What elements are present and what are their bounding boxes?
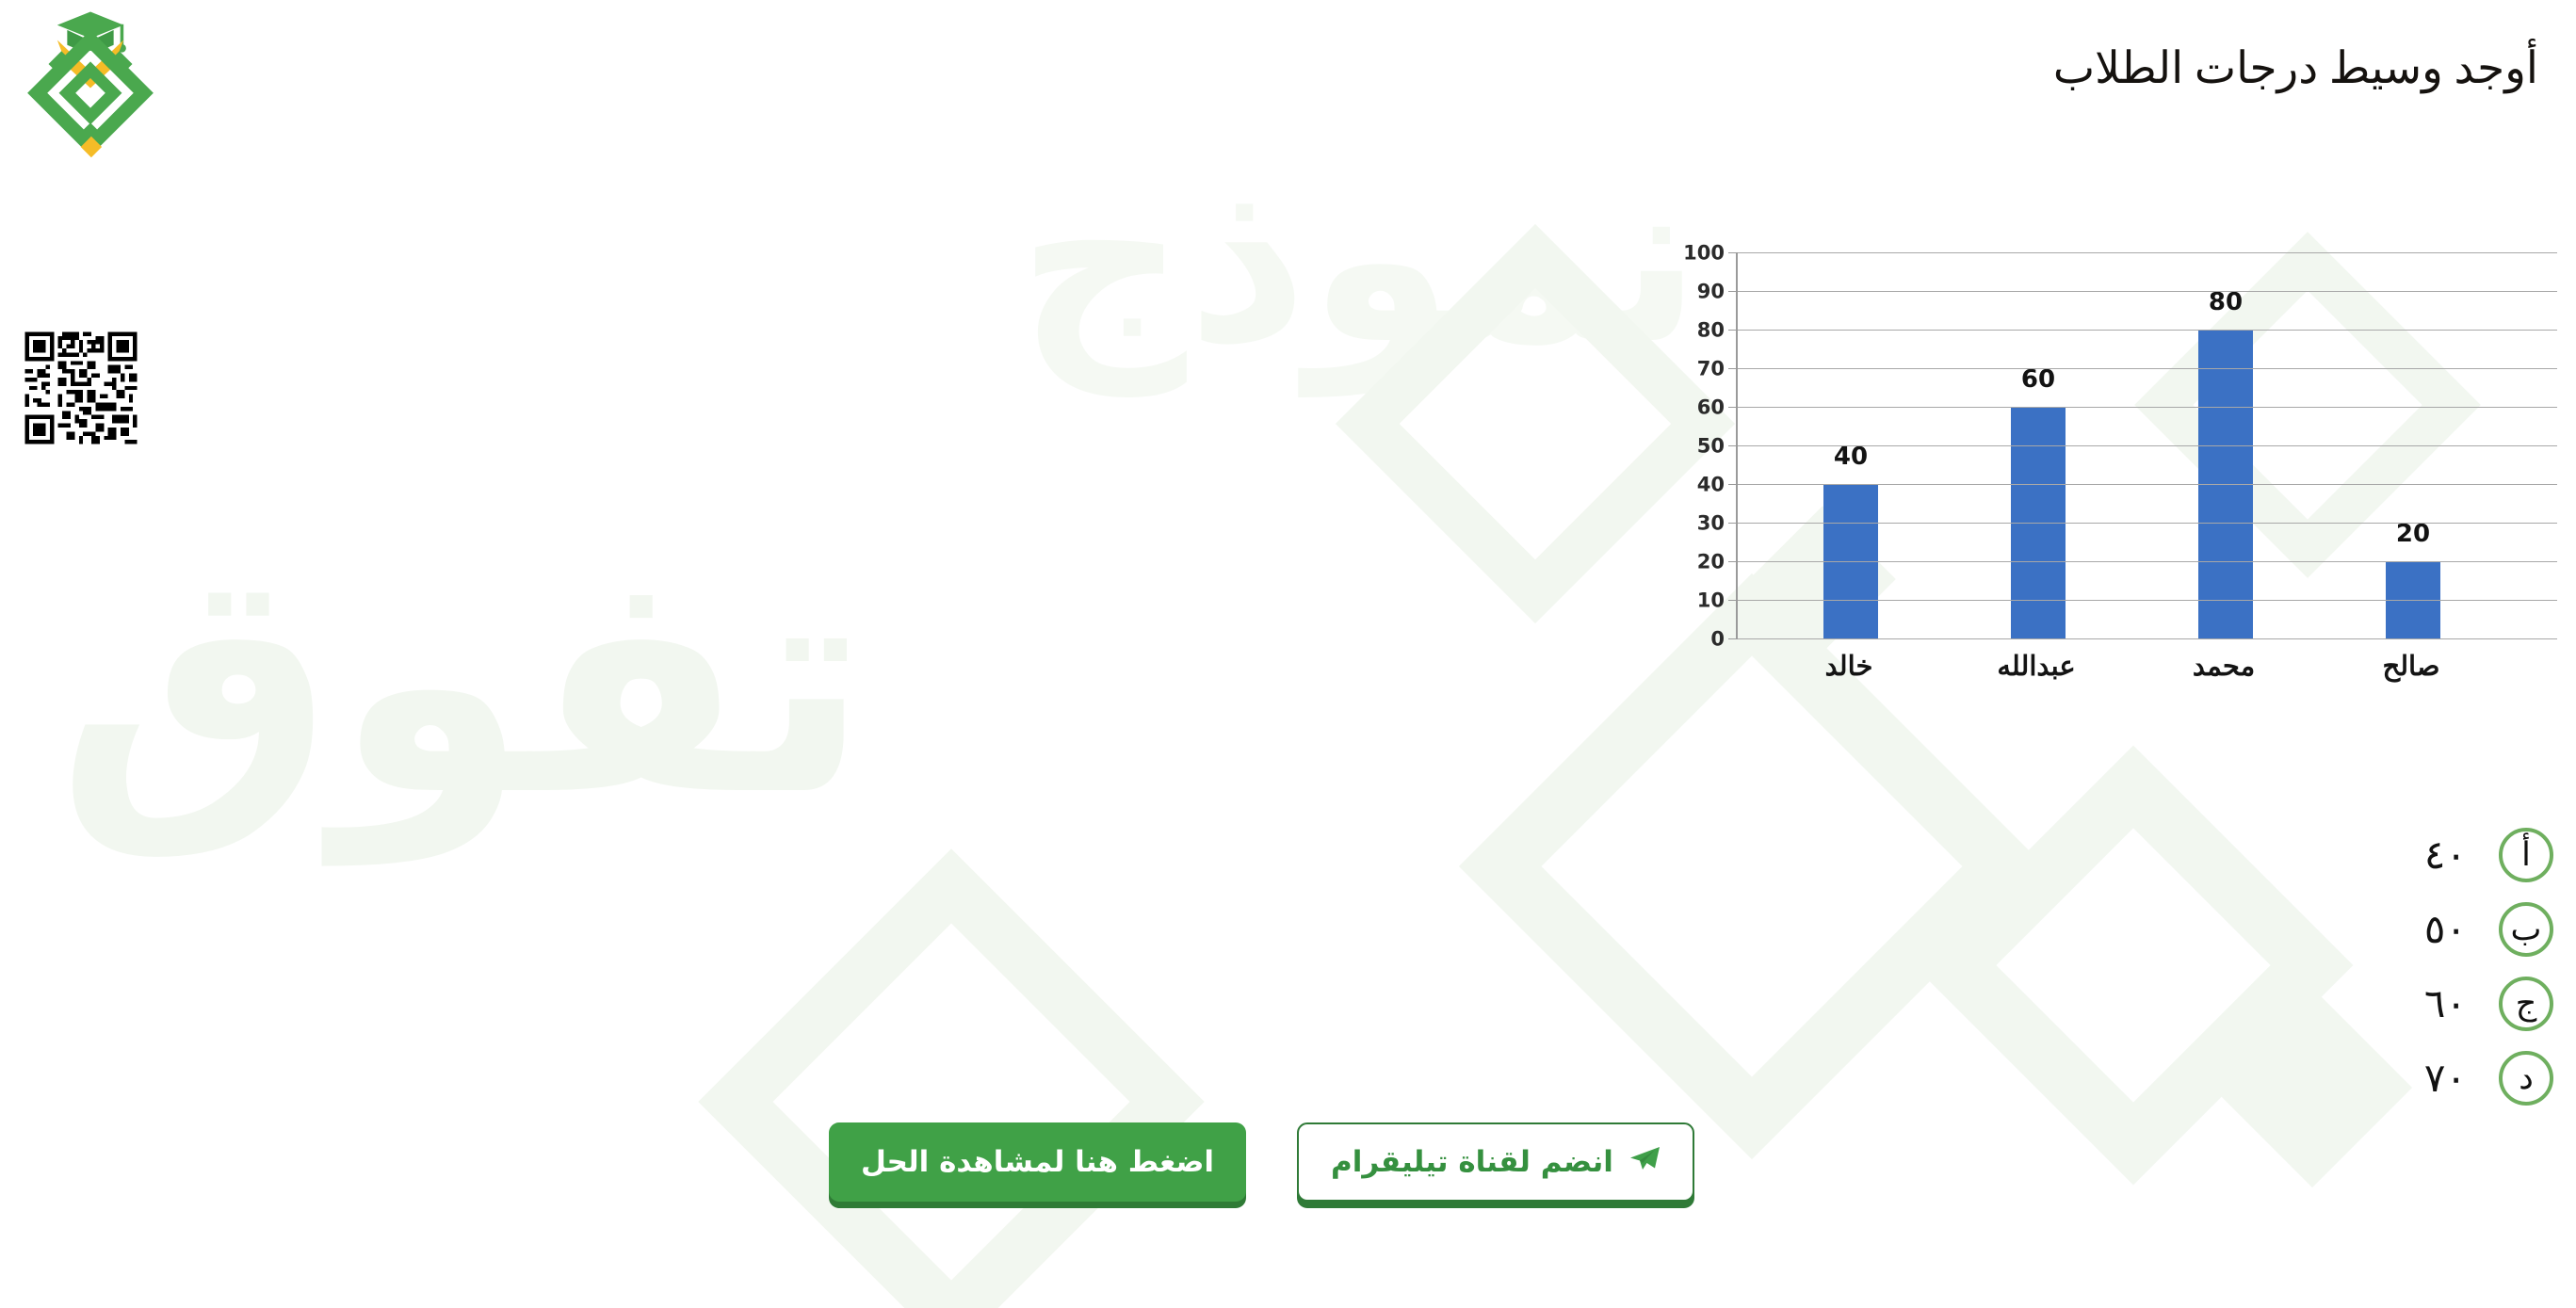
chart-y-tick-label: 40 <box>1697 474 1725 496</box>
chart-gridline: 90 <box>1738 291 2557 292</box>
chart-y-tick-label: 70 <box>1697 358 1725 380</box>
bar-chart: 40608020 1009080706050403020100 خالدعبدا… <box>1681 243 2557 742</box>
site-logo <box>8 2 173 168</box>
chart-y-tick <box>1728 330 1738 331</box>
chart-gridline: 100 <box>1738 252 2557 253</box>
chart-x-label: خالد <box>1768 650 1930 683</box>
chart-y-tick <box>1728 484 1738 485</box>
answer-option-value: ٧٠ <box>2424 1055 2467 1102</box>
chart-y-tick-label: 20 <box>1697 551 1725 573</box>
chart-y-tick-label: 30 <box>1697 512 1725 535</box>
chart-gridline: 80 <box>1738 330 2557 331</box>
chart-y-tick-label: 50 <box>1697 435 1725 458</box>
chart-y-tick <box>1728 523 1738 524</box>
chart-y-tick <box>1728 368 1738 369</box>
answer-option-value: ٤٠ <box>2424 832 2467 879</box>
chart-gridline: 60 <box>1738 407 2557 408</box>
chart-x-label: محمد <box>2143 650 2305 683</box>
chart-y-tick-label: 60 <box>1697 396 1725 419</box>
answer-option-1[interactable]: أ٤٠ <box>2309 817 2553 892</box>
chart-gridline: 10 <box>1738 600 2557 601</box>
chart-x-axis-labels: خالدعبداللهمحمدصالح <box>1736 650 2557 706</box>
chart-y-tick <box>1728 407 1738 408</box>
chart-gridline: 70 <box>1738 368 2557 369</box>
question-title: أوجد وسيط درجات الطلاب <box>1502 41 2538 97</box>
telegram-paper-plane-icon <box>1628 1144 1661 1180</box>
chart-bar-value-label: 20 <box>2396 520 2430 548</box>
watermark-word-primary: تفوق <box>57 527 869 838</box>
answer-option-4[interactable]: د٧٠ <box>2309 1041 2553 1115</box>
answer-option-letter[interactable]: ب <box>2499 902 2553 957</box>
chart-bar-value-label: 80 <box>2209 288 2243 316</box>
chart-bar-value-label: 60 <box>2021 365 2055 394</box>
chart-y-tick <box>1728 561 1738 562</box>
watermark-word-secondary: نموذج <box>1017 141 1702 377</box>
chart-gridline: 0 <box>1738 638 2557 639</box>
view-solution-label: اضغط هنا لمشاهدة الحل <box>861 1145 1214 1179</box>
chart-y-tick-label: 100 <box>1683 242 1725 265</box>
watermark-diamond <box>1914 746 2354 1186</box>
watermark-diamond <box>1336 224 1735 623</box>
answer-option-3[interactable]: ج٦٠ <box>2309 966 2553 1041</box>
qr-code[interactable] <box>21 328 141 448</box>
chart-gridline: 40 <box>1738 484 2557 485</box>
chart-bar-value-label: 40 <box>1834 443 1868 471</box>
chart-x-label: عبدالله <box>1955 650 2117 683</box>
chart-y-tick <box>1728 252 1738 253</box>
answer-option-2[interactable]: ب٥٠ <box>2309 892 2553 966</box>
chart-y-tick <box>1728 445 1738 446</box>
watermark-diamond <box>698 848 1204 1308</box>
chart-x-label: صالح <box>2330 650 2492 683</box>
chart-y-tick-label: 90 <box>1697 281 1725 303</box>
chart-gridline: 30 <box>1738 523 2557 524</box>
chart-y-tick-label: 10 <box>1697 589 1725 612</box>
answer-option-value: ٦٠ <box>2424 980 2467 1027</box>
join-telegram-label: انضم لقناة تيليقرام <box>1331 1145 1613 1179</box>
action-buttons: اضغط هنا لمشاهدة الحل انضم لقناة تيليقرا… <box>829 1122 1694 1202</box>
view-solution-button[interactable]: اضغط هنا لمشاهدة الحل <box>829 1122 1246 1202</box>
chart-y-tick <box>1728 291 1738 292</box>
chart-y-tick-label: 80 <box>1697 319 1725 342</box>
answer-option-letter[interactable]: ج <box>2499 977 2553 1031</box>
answer-options: أ٤٠ب٥٠ج٦٠د٧٠ <box>2309 817 2553 1115</box>
answer-option-letter[interactable]: أ <box>2499 828 2553 882</box>
chart-gridline: 50 <box>1738 445 2557 446</box>
chart-gridline: 20 <box>1738 561 2557 562</box>
answer-option-value: ٥٠ <box>2424 906 2467 953</box>
join-telegram-button[interactable]: انضم لقناة تيليقرام <box>1297 1122 1694 1202</box>
chart-plot-area: 40608020 1009080706050403020100 <box>1736 252 2557 638</box>
chart-y-tick-label: 0 <box>1710 628 1725 651</box>
chart-y-tick <box>1728 638 1738 639</box>
chart-y-tick <box>1728 600 1738 601</box>
answer-option-letter[interactable]: د <box>2499 1051 2553 1106</box>
